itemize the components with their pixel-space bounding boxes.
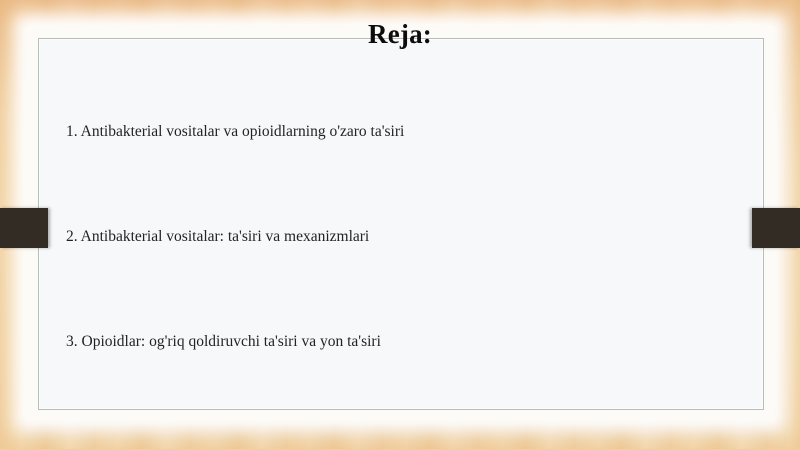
agenda-item: 1. Antibakterial vositalar va opioidlarn… — [66, 122, 726, 142]
left-ribbon-tab — [0, 208, 48, 248]
presentation-slide: Reja: 1. Antibakterial vositalar va opio… — [0, 0, 800, 449]
agenda-item: 3. Opioidlar: og'riq qoldiruvchi ta'siri… — [66, 332, 726, 352]
agenda-list: 1. Antibakterial vositalar va opioidlarn… — [66, 84, 726, 352]
agenda-item: 2. Antibakterial vositalar: ta'siri va m… — [66, 227, 726, 247]
slide-title: Reja: — [0, 19, 800, 49]
right-ribbon-tab — [752, 208, 800, 248]
